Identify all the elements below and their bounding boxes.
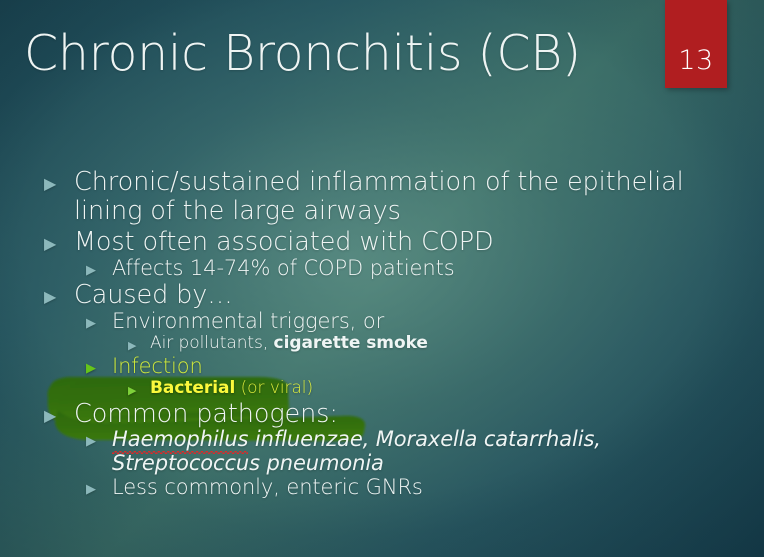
slide-canvas: 13 Chronic Bronchitis (CB) <box>0 0 764 557</box>
bullet-text-plain: Air pollutants, <box>150 333 274 353</box>
bullet-text-line: Less commonly, enteric GNRs <box>112 476 734 500</box>
bullet-text-plain: influenzae, Moraxella catarrhalis, <box>248 427 601 451</box>
spellcheck-underlined-word: Haemophilus <box>112 428 248 452</box>
bullet-triangle-icon: ▶ <box>44 281 74 305</box>
bullet-text-bold: Bacterial <box>150 378 235 398</box>
list-item[interactable]: ▶ Common pathogens: <box>44 400 734 429</box>
bullet-triangle-icon: ▶ <box>86 355 112 375</box>
list-item[interactable]: ▶ Less commonly, enteric GNRs <box>86 476 734 500</box>
list-item[interactable]: ▶ Environmental triggers, or <box>86 310 734 334</box>
bullet-text-line: Affects 14-74% of COPD patients <box>112 257 734 281</box>
bullet-triangle-icon: ▶ <box>128 334 150 351</box>
bullet-text-line: lining of the large airways <box>74 196 401 226</box>
bullet-text-line: Environmental triggers, or <box>112 310 734 334</box>
list-item-highlighted-bacterial[interactable]: ▶ Bacterial (or viral) <box>128 379 734 399</box>
bullet-text-line: Common pathogens: <box>74 400 734 429</box>
list-item[interactable]: ▶ Caused by… <box>44 281 734 310</box>
bullet-triangle-icon: ▶ <box>44 168 74 192</box>
bullet-text-line: Most often associated with COPD <box>74 228 734 257</box>
bullet-triangle-icon: ▶ <box>44 228 74 252</box>
slide-title: Chronic Bronchitis (CB) <box>24 28 644 79</box>
bullet-triangle-icon: ▶ <box>86 476 112 496</box>
list-item[interactable]: ▶ Most often associated with COPD <box>44 228 734 257</box>
bullet-text-bold: cigarette smoke <box>274 333 428 353</box>
list-item-highlighted-infection[interactable]: ▶ Infection <box>86 355 734 379</box>
bullet-triangle-icon: ▶ <box>128 379 150 396</box>
page-number-label: 13 <box>678 45 713 76</box>
bullet-text-line: Infection <box>112 355 734 379</box>
bullet-text-line: Streptococcus pneumonia <box>112 451 384 475</box>
bullet-text-line: Chronic/sustained inflammation of the ep… <box>74 167 684 197</box>
list-item[interactable]: ▶ Chronic/sustained inflammation of the … <box>44 168 734 225</box>
slide-body: ▶ Chronic/sustained inflammation of the … <box>44 168 734 501</box>
bullet-text-plain: (or viral) <box>235 378 313 398</box>
bullet-triangle-icon: ▶ <box>86 310 112 330</box>
bullet-text-line: Caused by… <box>74 281 734 310</box>
bullet-triangle-icon: ▶ <box>44 400 74 424</box>
list-item[interactable]: ▶ Haemophilus influenzae, Moraxella cata… <box>86 428 734 475</box>
list-item[interactable]: ▶ Air pollutants, cigarette smoke <box>128 334 734 354</box>
bullet-triangle-icon: ▶ <box>86 257 112 277</box>
page-number-badge: 13 <box>665 0 727 88</box>
list-item[interactable]: ▶ Affects 14-74% of COPD patients <box>86 257 734 281</box>
bullet-triangle-icon: ▶ <box>86 428 112 448</box>
